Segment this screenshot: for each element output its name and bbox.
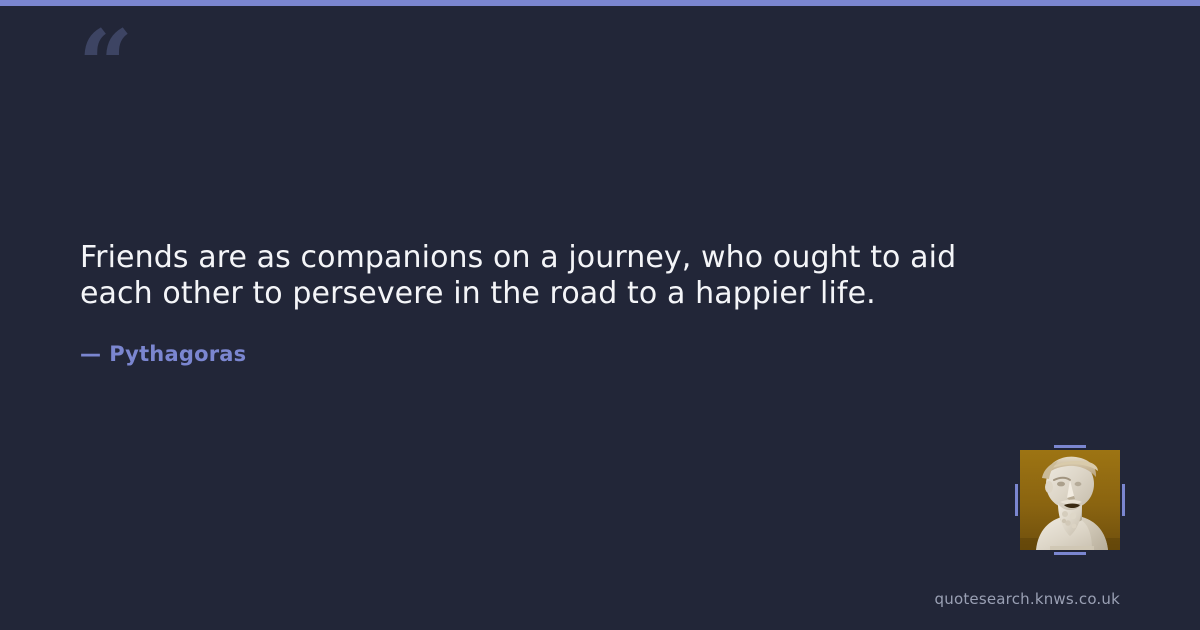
thumbnail-tick-left: [1015, 484, 1018, 516]
thumbnail-tick-bottom: [1054, 552, 1086, 555]
attribution-dash: —: [80, 342, 101, 366]
quote-attribution: —Pythagoras: [80, 312, 1080, 366]
quote-card: “ Friends are as companions on a journey…: [0, 0, 1200, 630]
quote-content: Friends are as companions on a journey, …: [80, 240, 1080, 366]
quotation-mark-icon: “: [78, 18, 131, 114]
bust-illustration-icon: [1020, 450, 1120, 550]
top-accent-bar: [0, 0, 1200, 6]
attribution-author: Pythagoras: [109, 342, 246, 366]
thumbnail-tick-right: [1122, 484, 1125, 516]
thumbnail-tick-top: [1054, 445, 1086, 448]
author-portrait-image: [1020, 450, 1120, 550]
author-thumbnail[interactable]: [1020, 450, 1120, 550]
quote-text: Friends are as companions on a journey, …: [80, 240, 1000, 312]
site-url-footer: quotesearch.knws.co.uk: [935, 590, 1120, 608]
